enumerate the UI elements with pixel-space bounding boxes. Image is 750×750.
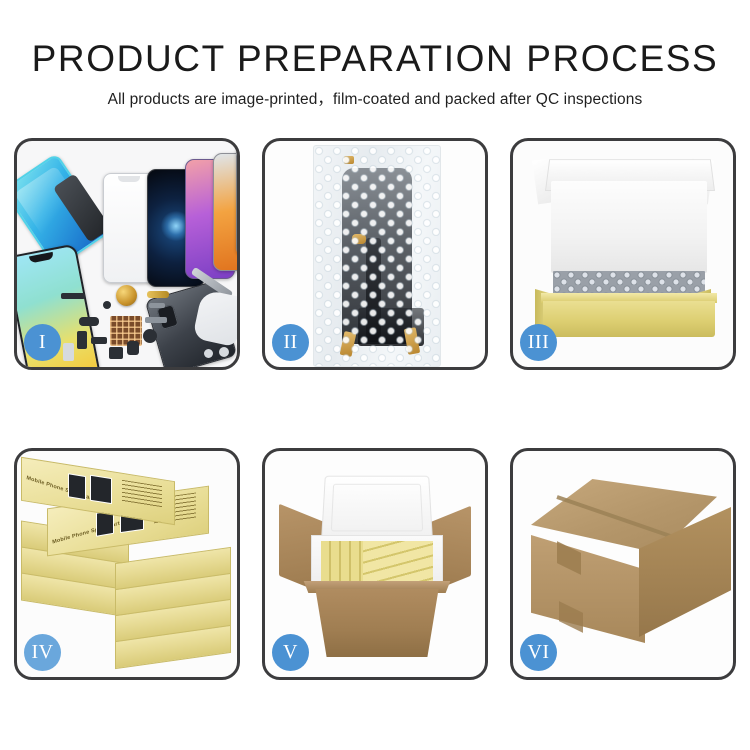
- process-step-3[interactable]: III: [510, 138, 736, 370]
- foam-box-lid: [321, 476, 433, 541]
- yellow-boxes-inside: [363, 541, 433, 585]
- spare-part: [109, 347, 123, 359]
- process-step-5[interactable]: V: [262, 448, 488, 680]
- step-badge-5: V: [272, 634, 309, 671]
- box-label: Mobile Phone Spare Parts: [26, 475, 97, 503]
- carton-left-face: [531, 535, 645, 643]
- spare-part: [61, 293, 85, 299]
- spare-part: [147, 291, 169, 298]
- spare-part: [79, 317, 99, 326]
- spare-part: [143, 329, 157, 343]
- page-subtitle: All products are image-printed，film-coat…: [0, 88, 750, 112]
- spare-part: [103, 301, 111, 309]
- spare-part: [63, 343, 74, 361]
- box-product-photo: [68, 473, 86, 500]
- gold-phone: [213, 153, 237, 271]
- step-badge-2: II: [272, 324, 309, 361]
- gold-coil-part: [116, 285, 137, 306]
- carton-front-wall: [307, 589, 447, 657]
- box-spec-lines: [122, 480, 162, 508]
- spare-part: [204, 349, 213, 358]
- step-badge-4: IV: [24, 634, 61, 671]
- step-badge-1: I: [24, 324, 61, 361]
- spare-part: [127, 341, 139, 355]
- bubble-texture: [314, 146, 440, 366]
- box-product-photo: [90, 475, 112, 504]
- foam-sheet: [551, 181, 707, 273]
- page-title: PRODUCT PREPARATION PROCESS: [0, 36, 750, 82]
- step-badge-3: III: [520, 324, 557, 361]
- process-step-grid: I II: [14, 138, 736, 698]
- step-badge-6: VI: [520, 634, 557, 671]
- process-step-6[interactable]: VI: [510, 448, 736, 680]
- spare-part: [149, 303, 165, 308]
- spare-part: [77, 331, 87, 349]
- process-step-2[interactable]: II: [262, 138, 488, 370]
- bubble-wrap-bag: [313, 145, 441, 367]
- page-header: PRODUCT PREPARATION PROCESS All products…: [0, 0, 750, 112]
- box-front-wall: [543, 301, 715, 337]
- spare-part: [91, 337, 107, 344]
- process-step-1[interactable]: I: [14, 138, 240, 370]
- teal-phone: [236, 143, 237, 257]
- process-step-4[interactable]: Mobile Phone Spare Parts Mobile Phone Sp…: [14, 448, 240, 680]
- spare-part: [145, 317, 167, 323]
- spare-part: [219, 347, 229, 357]
